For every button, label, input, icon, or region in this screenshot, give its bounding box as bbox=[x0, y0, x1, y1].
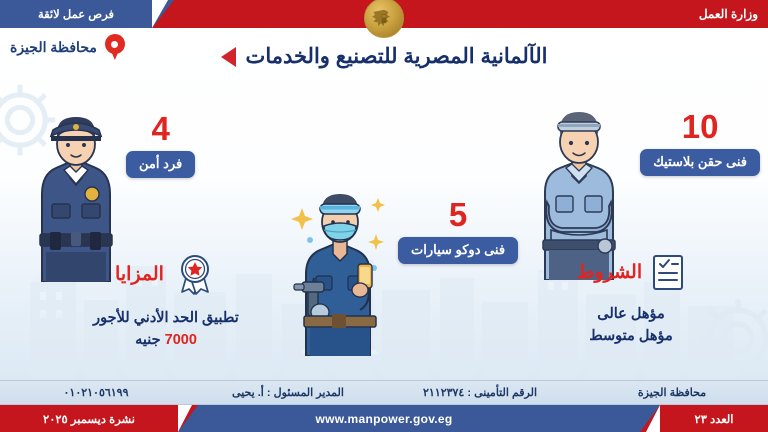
info-insurance: الرقم التأمينى : ٢١١٢٣٧٤ bbox=[384, 386, 576, 399]
conditions-title: الشروط bbox=[577, 261, 642, 284]
award-ribbon-icon bbox=[173, 252, 217, 296]
insurance-number: ٢١١٢٣٧٤ bbox=[423, 387, 464, 399]
benefits-amount: 7000 bbox=[165, 332, 197, 348]
job-title-chip: فرد أمن bbox=[126, 151, 195, 178]
conditions-line-1: مؤهل عالى bbox=[589, 304, 672, 326]
benefits-currency: جنيه bbox=[135, 332, 161, 348]
insurance-label: الرقم التأمينى : bbox=[467, 387, 537, 399]
job-count: 5 bbox=[449, 198, 467, 231]
triangle-left-icon bbox=[221, 47, 236, 67]
plastic-technician-illustration bbox=[525, 84, 633, 280]
conditions-line-2: مؤهل متوسط bbox=[589, 326, 672, 348]
info-manager: المدير المسئول : أ. يحيى bbox=[192, 386, 384, 399]
footer-bar: نشرة ديسمبر ٢٠٢٥ www.manpower.gov.eg الع… bbox=[0, 405, 768, 432]
job-card-plastic: 10 فنى حقن بلاستيك bbox=[640, 110, 760, 176]
company-title-row: الآلمانية المصرية للتصنيع والخدمات bbox=[0, 44, 768, 69]
top-right-banner-label: وزارة العمل bbox=[699, 0, 758, 28]
page-title: الآلمانية المصرية للتصنيع والخدمات bbox=[246, 44, 548, 69]
conditions-section: الشروط مؤهل عالى مؤهل متوسط bbox=[506, 252, 756, 348]
benefits-line-1: تطبيق الحد الأدني للأجور bbox=[93, 308, 239, 330]
job-title-chip: فنى حقن بلاستيك bbox=[640, 149, 760, 176]
job-count: 10 bbox=[682, 110, 719, 143]
info-phone: ٠١٠٢١٠٥٦١٩٩ bbox=[0, 386, 192, 399]
infographic-canvas: فرص عمل لائقة وزارة العمل محافظة الجيزة … bbox=[0, 0, 768, 432]
top-bar-white-wedge bbox=[152, 0, 168, 28]
benefits-header: المزايا bbox=[115, 252, 217, 296]
manager-label: المدير المسئول : bbox=[267, 387, 344, 399]
top-left-banner-label: فرص عمل لائقة bbox=[0, 0, 152, 28]
job-card-paint: 5 فنى دوكو سيارات bbox=[398, 198, 518, 264]
conditions-header: الشروط bbox=[577, 252, 685, 292]
job-title-chip: فنى دوكو سيارات bbox=[398, 237, 518, 264]
benefits-title: المزايا bbox=[115, 263, 164, 286]
eagle-icon bbox=[369, 3, 399, 33]
info-bar: محافظة الجيزة الرقم التأمينى : ٢١١٢٣٧٤ ا… bbox=[0, 380, 768, 405]
benefits-line-2: 7000 جنيه bbox=[93, 330, 239, 352]
manager-name: أ. يحيى bbox=[232, 387, 264, 399]
job-count: 4 bbox=[151, 112, 169, 145]
footer-website-link[interactable]: www.manpower.gov.eg bbox=[0, 405, 768, 432]
egypt-eagle-emblem bbox=[364, 0, 404, 38]
conditions-body: مؤهل عالى مؤهل متوسط bbox=[589, 304, 672, 348]
checklist-clipboard-icon bbox=[651, 252, 685, 292]
benefits-section: المزايا تطبيق الحد الأدني للأجور 7000 جن… bbox=[26, 252, 306, 352]
benefits-body: تطبيق الحد الأدني للأجور 7000 جنيه bbox=[93, 308, 239, 352]
emblem-disc bbox=[364, 0, 404, 38]
job-card-security: 4 فرد أمن bbox=[126, 112, 195, 178]
footer-issue-label: العدد ٢٣ bbox=[660, 405, 768, 432]
info-governorate: محافظة الجيزة bbox=[576, 386, 768, 399]
